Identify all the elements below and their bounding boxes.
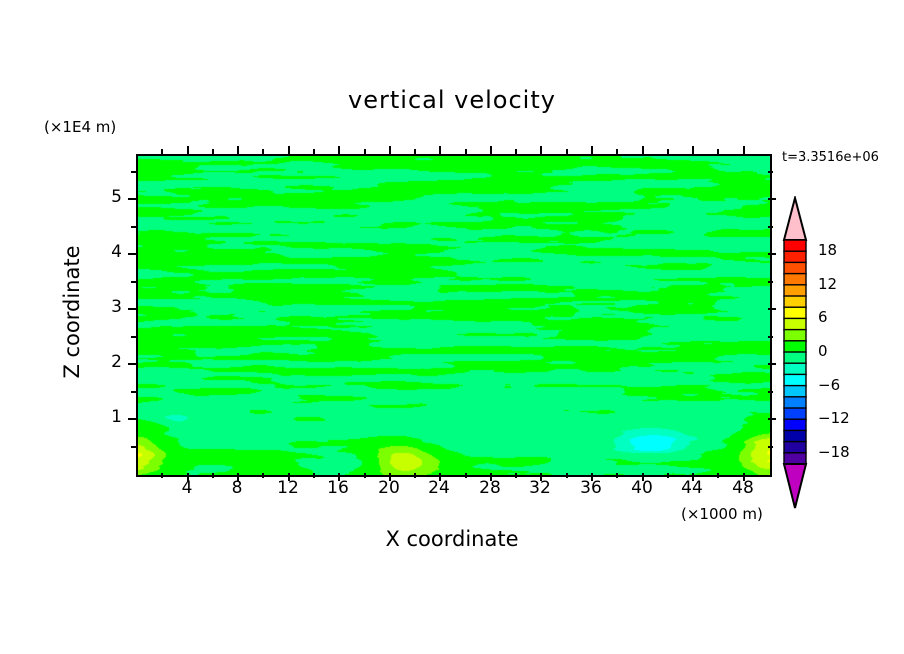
y-tick-minor-right <box>768 171 773 173</box>
x-tick-minor-top <box>212 149 214 154</box>
y-tick-major-right <box>768 308 776 310</box>
colorbar-band <box>784 330 806 342</box>
x-tick-label: 36 <box>571 478 611 498</box>
y-tick-major-right <box>768 363 776 365</box>
contour-field <box>138 156 770 475</box>
x-tick-minor-top <box>515 149 517 154</box>
x-axis-units: (×1000 m) <box>681 505 763 523</box>
x-tick-minor <box>717 473 719 478</box>
x-tick-major-top <box>338 146 340 154</box>
y-tick-label: 1 <box>96 407 122 427</box>
x-tick-major-top <box>389 146 391 154</box>
x-tick-label: 16 <box>318 478 358 498</box>
colorbar-tick-label: 18 <box>818 241 837 259</box>
colorbar-band <box>784 453 806 465</box>
x-tick-minor-top <box>465 149 467 154</box>
y-tick-major <box>128 253 136 255</box>
y-tick-major <box>128 198 136 200</box>
x-tick-major-top <box>288 146 290 154</box>
x-tick-label: 24 <box>419 478 459 498</box>
x-tick-major-top <box>743 146 745 154</box>
x-tick-label: 32 <box>520 478 560 498</box>
colorbar-band <box>784 397 806 409</box>
chart-title: vertical velocity <box>0 86 904 114</box>
colorbar-under-arrow <box>784 464 806 508</box>
x-axis-label: X coordinate <box>136 527 768 551</box>
x-tick-minor-top <box>161 149 163 154</box>
colorbar-over-arrow <box>784 198 806 240</box>
contour-plot-area <box>136 154 772 477</box>
x-tick-minor-top <box>262 149 264 154</box>
colorbar-band <box>784 341 806 353</box>
colorbar-band <box>784 419 806 431</box>
y-tick-minor <box>131 171 136 173</box>
colorbar-tick-label: 6 <box>818 308 828 326</box>
x-tick-major-top <box>540 146 542 154</box>
x-tick-label: 12 <box>268 478 308 498</box>
y-tick-major-right <box>768 198 776 200</box>
colorbar-tick-label: 12 <box>818 275 837 293</box>
y-axis-units: (×1E4 m) <box>44 118 116 136</box>
x-tick-label: 8 <box>217 478 257 498</box>
colorbar-tick-label: −18 <box>818 443 850 461</box>
colorbar-band <box>784 240 806 252</box>
colorbar: 181260−6−12−18 <box>778 196 898 526</box>
y-tick-major <box>128 308 136 310</box>
y-tick-label: 4 <box>96 242 122 262</box>
y-tick-major <box>128 418 136 420</box>
x-tick-minor <box>262 473 264 478</box>
x-tick-minor-top <box>364 149 366 154</box>
colorbar-band <box>784 296 806 308</box>
x-tick-label: 4 <box>167 478 207 498</box>
colorbar-band <box>784 307 806 319</box>
colorbar-tick-label: −12 <box>818 409 850 427</box>
colorbar-band <box>784 318 806 330</box>
y-tick-minor <box>131 226 136 228</box>
colorbar-band <box>784 363 806 375</box>
colorbar-band <box>784 274 806 286</box>
x-tick-minor-top <box>566 149 568 154</box>
x-tick-minor-top <box>414 149 416 154</box>
x-tick-minor <box>212 473 214 478</box>
x-tick-minor <box>515 473 517 478</box>
x-tick-minor-top <box>616 149 618 154</box>
x-tick-major-top <box>187 146 189 154</box>
colorbar-band <box>784 251 806 263</box>
colorbar-tick-label: −6 <box>818 376 840 394</box>
x-tick-minor-top <box>717 149 719 154</box>
y-tick-minor-right <box>768 226 773 228</box>
y-axis-label: Z coordinate <box>60 222 84 402</box>
x-tick-minor-top <box>313 149 315 154</box>
colorbar-band <box>784 262 806 274</box>
x-tick-minor <box>414 473 416 478</box>
x-tick-label: 44 <box>672 478 712 498</box>
y-tick-minor-right <box>768 446 773 448</box>
y-tick-minor-right <box>768 336 773 338</box>
x-tick-major-top <box>439 146 441 154</box>
y-tick-minor-right <box>768 281 773 283</box>
x-tick-minor <box>566 473 568 478</box>
colorbar-band <box>784 285 806 297</box>
y-tick-major <box>128 363 136 365</box>
y-tick-minor <box>131 281 136 283</box>
x-tick-major-top <box>642 146 644 154</box>
x-tick-minor-top <box>667 149 669 154</box>
x-tick-label: 48 <box>723 478 763 498</box>
x-tick-minor <box>161 473 163 478</box>
colorbar-band <box>784 374 806 386</box>
y-tick-minor-right <box>768 391 773 393</box>
y-tick-major-right <box>768 253 776 255</box>
x-tick-minor <box>313 473 315 478</box>
x-tick-major-top <box>692 146 694 154</box>
y-tick-label: 2 <box>96 352 122 372</box>
colorbar-tick-label: 0 <box>818 342 828 360</box>
x-tick-minor <box>465 473 467 478</box>
y-tick-label: 5 <box>96 187 122 207</box>
timestamp-annotation: t=3.3516e+06 <box>782 150 879 165</box>
x-tick-minor <box>667 473 669 478</box>
x-tick-label: 28 <box>470 478 510 498</box>
x-tick-major-top <box>591 146 593 154</box>
y-tick-minor <box>131 391 136 393</box>
y-tick-minor <box>131 446 136 448</box>
colorbar-band <box>784 408 806 420</box>
y-tick-label: 3 <box>96 297 122 317</box>
y-tick-minor <box>131 336 136 338</box>
x-tick-minor <box>616 473 618 478</box>
x-tick-minor <box>364 473 366 478</box>
x-tick-label: 40 <box>622 478 662 498</box>
colorbar-band <box>784 430 806 442</box>
colorbar-band <box>784 442 806 454</box>
x-tick-major-top <box>237 146 239 154</box>
y-tick-major-right <box>768 418 776 420</box>
colorbar-band <box>784 352 806 364</box>
x-tick-label: 20 <box>369 478 409 498</box>
x-tick-major-top <box>490 146 492 154</box>
colorbar-band <box>784 386 806 398</box>
